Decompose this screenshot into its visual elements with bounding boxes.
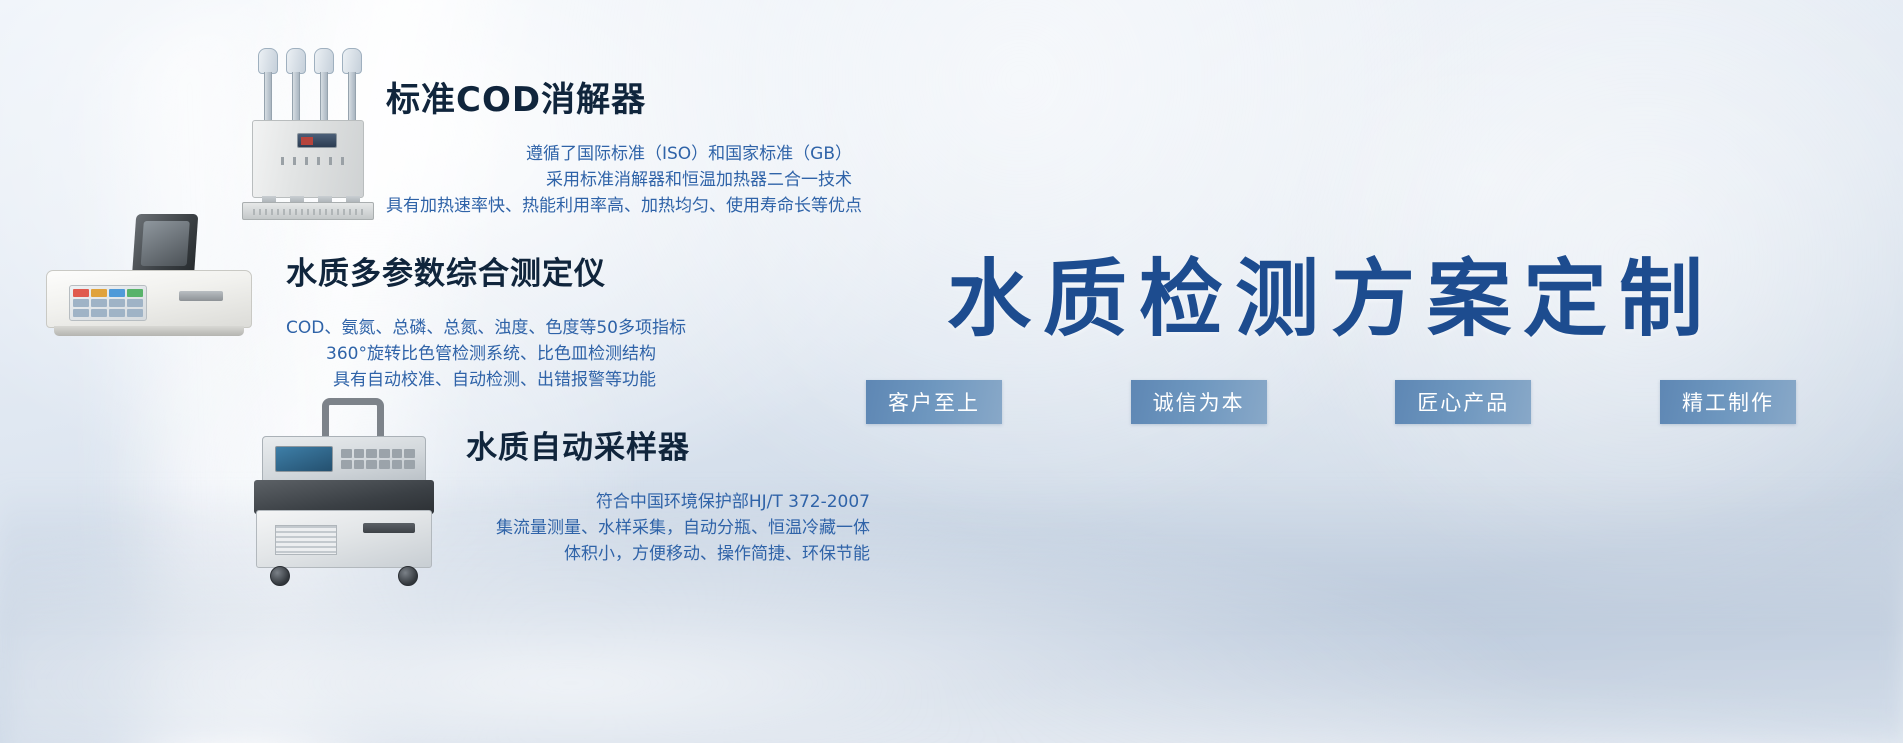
product-desc-line: 遵循了国际标准（ISO）和国家标准（GB） [386,141,852,167]
slogan-tag-list: 客户至上 诚信为本 匠心产品 精工制作 [866,380,1796,424]
sampler-wheel [270,566,290,586]
product-desc-line: COD、氨氮、总磷、总氮、浊度、色度等50多项指标 [286,315,656,341]
analyzer-cuvette-slot [179,291,223,301]
sampler-display-screen [275,446,333,472]
product-title: 水质多参数综合测定仪 [286,248,656,293]
cod-base-unit [242,202,374,220]
product-title: 标准COD消解器 [386,72,852,121]
cod-control-body [252,120,364,198]
multi-parameter-analyzer-icon [40,214,260,344]
water-quality-banner: 标准COD消解器 遵循了国际标准（ISO）和国家标准（GB） 采用标准消解器和恒… [0,0,1903,743]
analyzer-base [54,326,244,336]
slogan-tag-fine-making[interactable]: 精工制作 [1660,380,1796,424]
cod-flask [342,48,362,120]
sampler-cabinet [256,510,432,568]
sampler-top-cover [254,480,434,514]
product-desc-line: 体积小，方便移动、操作简捷、环保节能 [466,541,870,567]
analyzer-body [46,270,252,328]
product-title: 水质自动采样器 [466,422,870,467]
analyzer-keypad [69,285,147,321]
slogan-tag-customer-first[interactable]: 客户至上 [866,380,1002,424]
cod-digester-icon [236,46,386,216]
sampler-control-panel [262,436,426,484]
product-desc-line: 具有加热速率快、热能利用率高、加热均匀、使用寿命长等优点 [386,193,852,219]
banner-headline: 水质检测方案定制 [866,232,1796,353]
cod-flask [286,48,306,120]
slogan-tag-integrity[interactable]: 诚信为本 [1131,380,1267,424]
sampler-door-handle [363,523,415,533]
product-desc-line: 集流量测量、水样采集，自动分瓶、恒温冷藏一体 [466,515,870,541]
product-desc-line: 360°旋转比色管检测系统、比色皿检测结构 [286,341,656,367]
sampler-keypad [341,449,415,469]
product-block-cod-digester: 标准COD消解器 遵循了国际标准（ISO）和国家标准（GB） 采用标准消解器和恒… [386,72,852,219]
cod-flask [314,48,334,120]
product-desc-line: 符合中国环境保护部HJ/T 372-2007 [466,489,870,515]
cod-control-knobs [281,157,353,165]
product-description: COD、氨氮、总磷、总氮、浊度、色度等50多项指标 360°旋转比色管检测系统、… [286,315,656,393]
cod-display-screen [297,133,337,148]
sampler-wheel [398,566,418,586]
product-desc-line: 采用标准消解器和恒温加热器二合一技术 [386,167,852,193]
product-desc-line: 具有自动校准、自动检测、出错报警等功能 [286,367,656,393]
product-block-auto-sampler: 水质自动采样器 符合中国环境保护部HJ/T 372-2007 集流量测量、水样采… [466,422,870,567]
auto-sampler-icon [246,398,442,588]
cod-flask [258,48,278,120]
product-description: 符合中国环境保护部HJ/T 372-2007 集流量测量、水样采集，自动分瓶、恒… [466,489,870,567]
product-block-multi-parameter-analyzer: 水质多参数综合测定仪 COD、氨氮、总磷、总氮、浊度、色度等50多项指标 360… [286,248,656,393]
sampler-vent-grille [275,525,337,555]
product-description: 遵循了国际标准（ISO）和国家标准（GB） 采用标准消解器和恒温加热器二合一技术… [386,141,852,219]
slogan-tag-craftsmanship[interactable]: 匠心产品 [1395,380,1531,424]
